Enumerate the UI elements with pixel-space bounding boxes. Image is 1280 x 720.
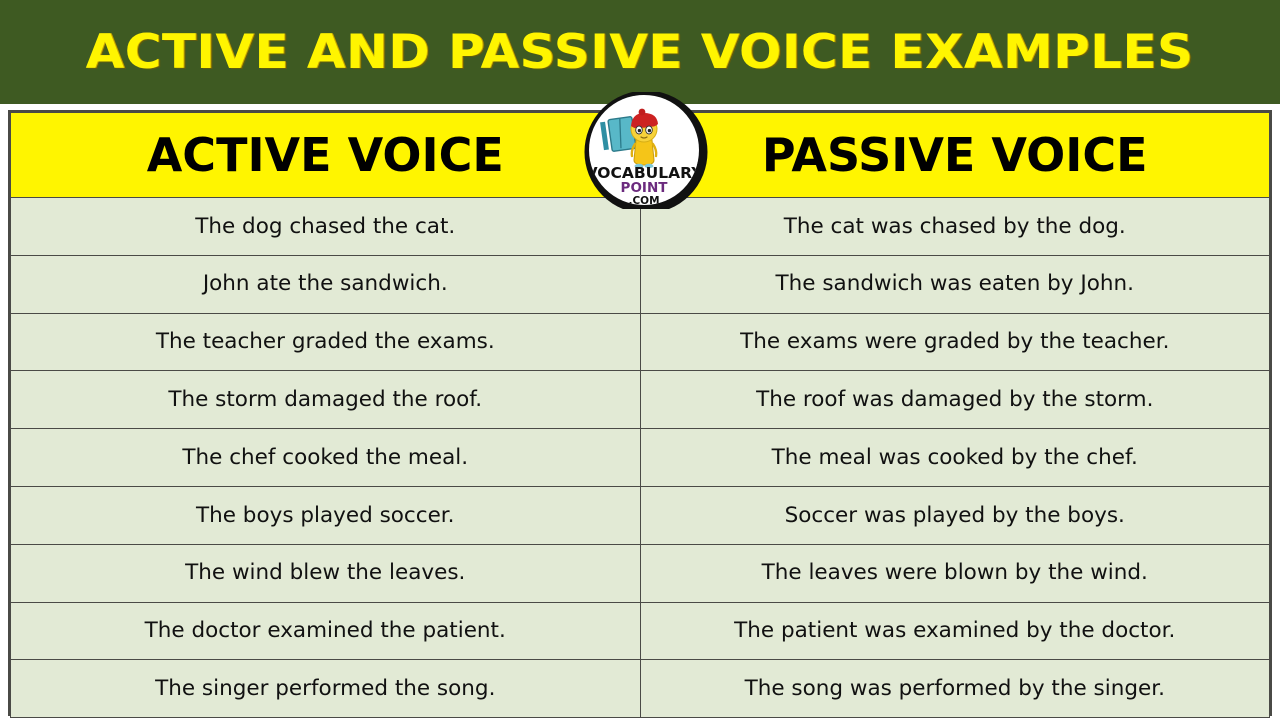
cell-passive: The meal was cooked by the chef. — [640, 429, 1270, 487]
table-body: The dog chased the cat. The cat was chas… — [11, 198, 1270, 718]
cell-active: The singer performed the song. — [11, 660, 641, 718]
page-title: ACTIVE AND PASSIVE VOICE EXAMPLES — [86, 29, 1194, 76]
table-row: The doctor examined the patient. The pat… — [11, 602, 1270, 660]
cell-active: The dog chased the cat. — [11, 198, 641, 256]
cell-passive: The leaves were blown by the wind. — [640, 544, 1270, 602]
poster-root: ACTIVE AND PASSIVE VOICE EXAMPLES ACTIVE… — [0, 0, 1280, 720]
table-row: The teacher graded the exams. The exams … — [11, 313, 1270, 371]
cell-active: John ate the sandwich. — [11, 255, 641, 313]
voice-table-container: ACTIVE VOICE PASSIVE VOICE The dog chase… — [8, 110, 1272, 716]
table-row: The storm damaged the roof. The roof was… — [11, 371, 1270, 429]
cell-active: The boys played soccer. — [11, 486, 641, 544]
title-band: ACTIVE AND PASSIVE VOICE EXAMPLES — [0, 0, 1280, 104]
cell-passive: The sandwich was eaten by John. — [640, 255, 1270, 313]
table-row: The wind blew the leaves. The leaves wer… — [11, 544, 1270, 602]
cell-active: The teacher graded the exams. — [11, 313, 641, 371]
voice-table: ACTIVE VOICE PASSIVE VOICE The dog chase… — [10, 112, 1270, 718]
cell-active: The doctor examined the patient. — [11, 602, 641, 660]
cell-passive: The roof was damaged by the storm. — [640, 371, 1270, 429]
cell-passive: The song was performed by the singer. — [640, 660, 1270, 718]
table-row: The dog chased the cat. The cat was chas… — [11, 198, 1270, 256]
table-row: The chef cooked the meal. The meal was c… — [11, 429, 1270, 487]
cell-active: The wind blew the leaves. — [11, 544, 641, 602]
cell-passive: Soccer was played by the boys. — [640, 486, 1270, 544]
table-row: John ate the sandwich. The sandwich was … — [11, 255, 1270, 313]
column-header-active-voice: ACTIVE VOICE — [11, 113, 641, 198]
cell-passive: The patient was examined by the doctor. — [640, 602, 1270, 660]
column-header-passive-voice: PASSIVE VOICE — [640, 113, 1270, 198]
table-header-row: ACTIVE VOICE PASSIVE VOICE — [11, 113, 1270, 198]
cell-active: The storm damaged the roof. — [11, 371, 641, 429]
cell-passive: The cat was chased by the dog. — [640, 198, 1270, 256]
table-header: ACTIVE VOICE PASSIVE VOICE — [11, 113, 1270, 198]
table-row: The singer performed the song. The song … — [11, 660, 1270, 718]
cell-passive: The exams were graded by the teacher. — [640, 313, 1270, 371]
table-row: The boys played soccer. Soccer was playe… — [11, 486, 1270, 544]
cell-active: The chef cooked the meal. — [11, 429, 641, 487]
